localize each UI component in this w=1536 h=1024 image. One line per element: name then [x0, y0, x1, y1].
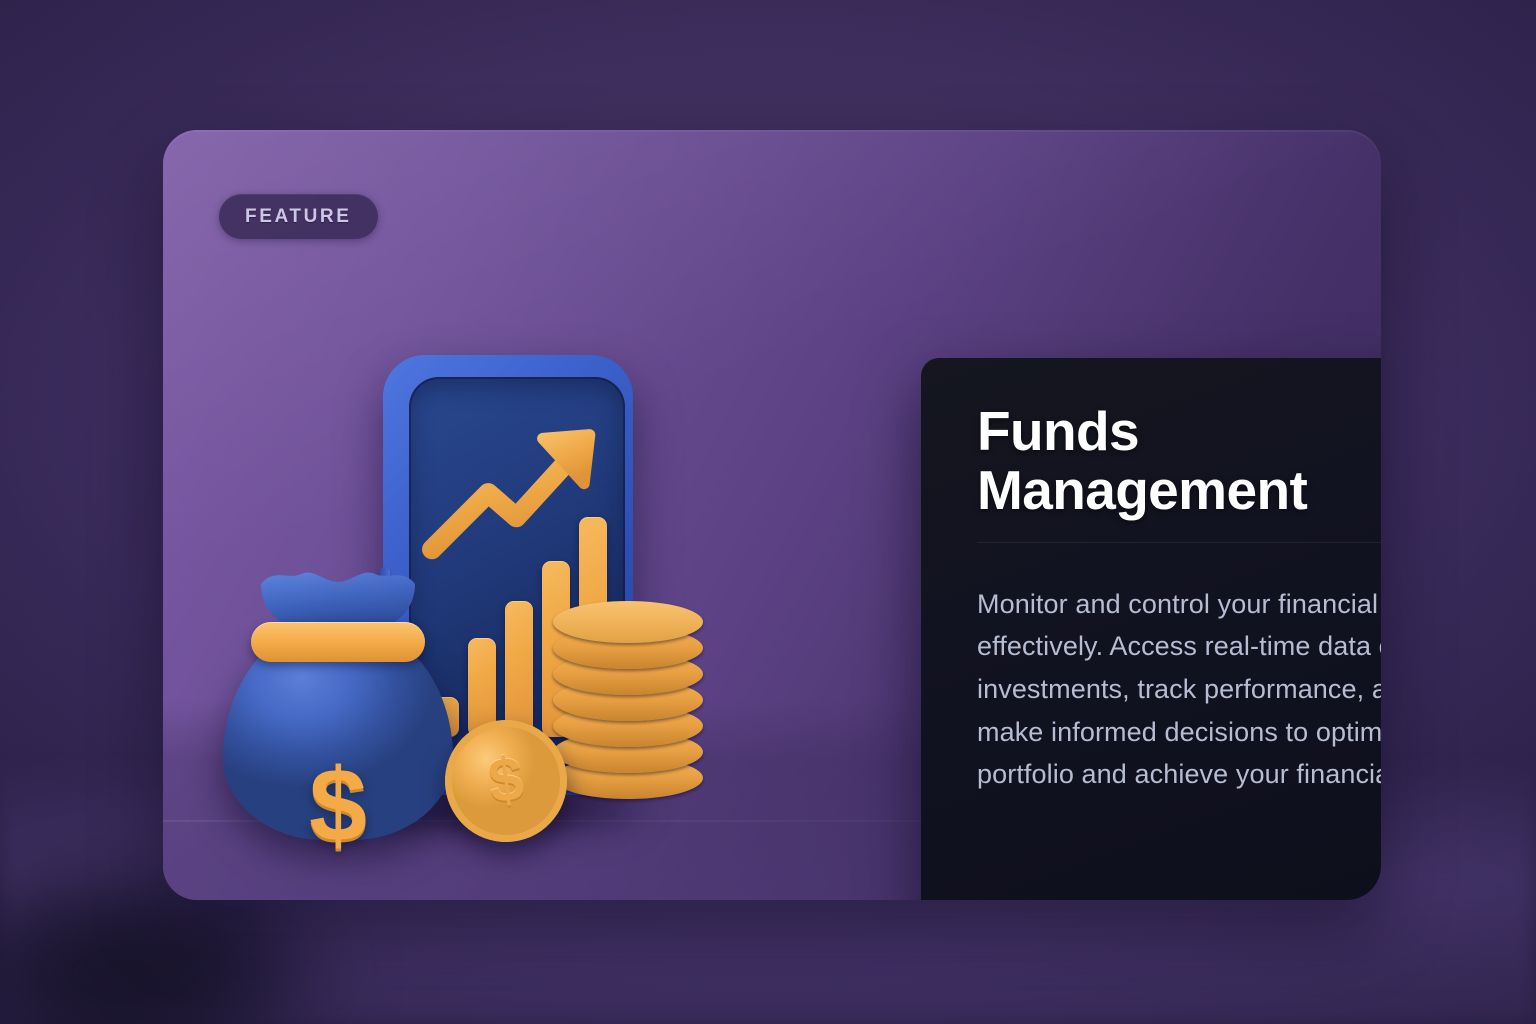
coin-stack-icon: $ [553, 595, 703, 825]
front-coin-symbol: $ [485, 748, 527, 814]
page-title: Funds Management [977, 402, 1381, 520]
money-bag-tie [251, 622, 425, 662]
coin-layer-top [553, 601, 703, 643]
panel-description: Monitor and control your financial asset… [977, 583, 1381, 796]
dollar-sign-icon: $ [223, 754, 453, 858]
bar-3 [505, 601, 533, 737]
feature-card: FEATURE [163, 130, 1381, 900]
money-bag-icon: $ [223, 570, 453, 840]
info-panel: Funds Management Monitor and control you… [921, 358, 1381, 900]
panel-title-section: Funds Management [921, 358, 1381, 543]
panel-body-section: Monitor and control your financial asset… [921, 543, 1381, 796]
funds-illustration: $ $ [223, 220, 783, 900]
